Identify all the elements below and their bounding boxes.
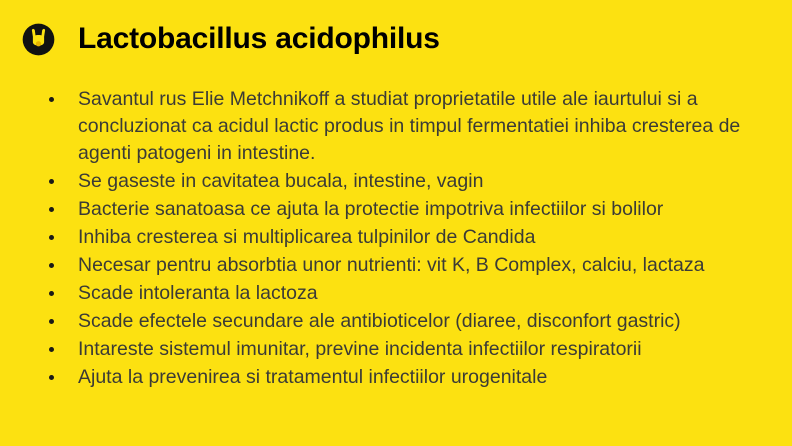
presentation-slide: Lactobacillus acidophilus Savantul rus E… <box>0 0 792 446</box>
bullet-list: Savantul rus Elie Metchnikoff a studiat … <box>44 86 768 392</box>
list-item: Inhiba cresterea si multiplicarea tulpin… <box>44 224 768 251</box>
list-item-text: Inhiba cresterea si multiplicarea tulpin… <box>78 224 768 251</box>
slide-header: Lactobacillus acidophilus <box>0 18 440 60</box>
bullet-dot-icon <box>49 263 54 268</box>
list-item: Intareste sistemul imunitar, previne inc… <box>44 336 768 363</box>
list-item-text: Scade efectele secundare ale antibiotice… <box>78 308 768 335</box>
list-item: Ajuta la prevenirea si tratamentul infec… <box>44 364 768 391</box>
bullet-dot-icon <box>49 375 54 380</box>
page-title: Lactobacillus acidophilus <box>78 22 440 56</box>
list-item-text: Savantul rus Elie Metchnikoff a studiat … <box>78 86 768 167</box>
list-item-text: Se gaseste in cavitatea bucala, intestin… <box>78 168 768 195</box>
list-item-text: Scade intoleranta la lactoza <box>78 280 768 307</box>
list-item: Bacterie sanatoasa ce ajuta la protectie… <box>44 196 768 223</box>
list-item: Scade intoleranta la lactoza <box>44 280 768 307</box>
list-item-text: Necesar pentru absorbtia unor nutrienti:… <box>78 252 768 279</box>
list-item: Savantul rus Elie Metchnikoff a studiat … <box>44 86 768 167</box>
list-item-text: Intareste sistemul imunitar, previne inc… <box>78 336 768 363</box>
bullet-dot-icon <box>49 319 54 324</box>
list-item: Scade efectele secundare ale antibiotice… <box>44 308 768 335</box>
list-item: Necesar pentru absorbtia unor nutrienti:… <box>44 252 768 279</box>
bacteria-circle-logo-icon <box>22 23 55 56</box>
bullet-dot-icon <box>49 179 54 184</box>
list-item: Se gaseste in cavitatea bucala, intestin… <box>44 168 768 195</box>
list-item-text: Bacterie sanatoasa ce ajuta la protectie… <box>78 196 768 223</box>
bullet-dot-icon <box>49 207 54 212</box>
bullet-dot-icon <box>49 291 54 296</box>
bullet-dot-icon <box>49 97 54 102</box>
bullet-dot-icon <box>49 235 54 240</box>
bullet-dot-icon <box>49 347 54 352</box>
list-item-text: Ajuta la prevenirea si tratamentul infec… <box>78 364 768 391</box>
